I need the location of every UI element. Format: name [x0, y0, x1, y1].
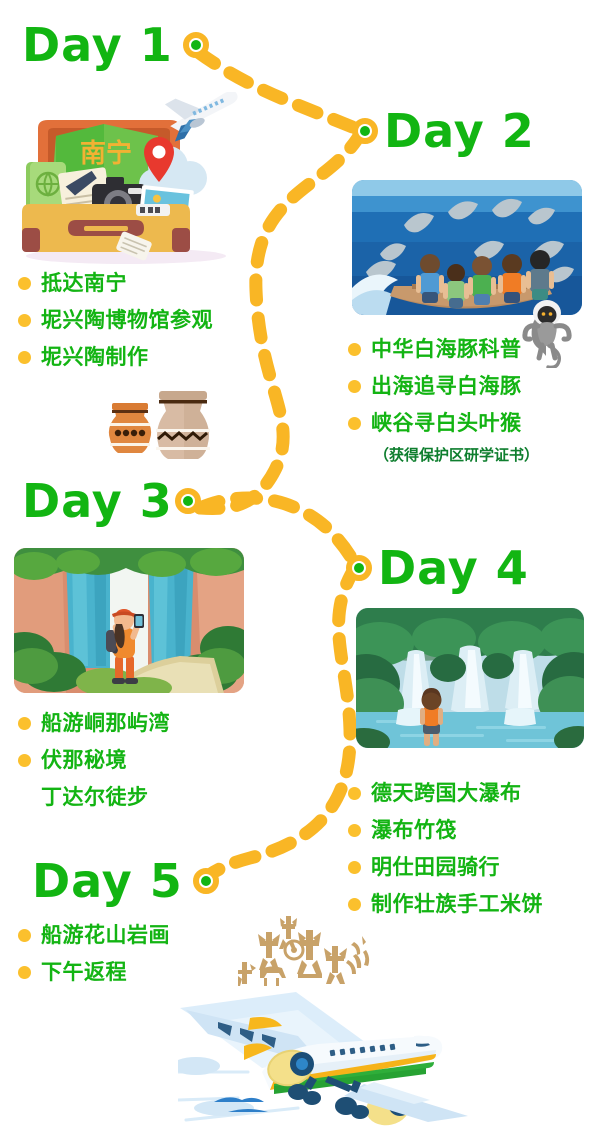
canyon-hiker-photo	[14, 548, 244, 693]
day-3-heading: Day 3	[22, 478, 201, 524]
day-1-node-marker	[183, 32, 209, 58]
list-item-label: 坭兴陶博物馆参观	[41, 305, 213, 336]
svg-text:南宁: 南宁	[80, 138, 132, 169]
list-item-label: 中华白海豚科普	[371, 334, 522, 365]
day-4-bullet-list: 德天跨国大瀑布 瀑布竹筏 明仕田园骑行 制作壮族手工米饼	[348, 778, 598, 926]
airplane-takeoff-illustration	[178, 980, 598, 1138]
bullet-dot	[348, 898, 361, 911]
list-item-label: 抵达南宁	[41, 268, 127, 299]
bullet-dot-placeholder	[18, 791, 31, 804]
bullet-dot	[348, 861, 361, 874]
day-2-certificate-note: （获得保护区研学证书）	[374, 446, 539, 464]
list-item: 船游峒那屿湾	[18, 708, 278, 739]
day-4-node-marker	[346, 555, 372, 581]
day-1-heading: Day 1	[22, 22, 209, 68]
bullet-dot	[348, 824, 361, 837]
day-5-label: Day 5	[32, 858, 183, 904]
list-item-label: 制作壮族手工米饼	[371, 889, 543, 920]
list-item-label: 坭兴陶制作	[41, 342, 149, 373]
bullet-dot	[18, 966, 31, 979]
day-2-note-row: （获得保护区研学证书）	[348, 443, 598, 467]
list-item-label: 出海追寻白海豚	[371, 371, 522, 402]
detian-waterfall-photo	[356, 608, 584, 748]
list-item-label: 下午返程	[41, 957, 127, 988]
day-1-bullet-list: 抵达南宁 坭兴陶博物馆参观 坭兴陶制作	[18, 268, 278, 379]
day-3-label: Day 3	[22, 478, 173, 524]
day-4-label: Day 4	[378, 545, 529, 591]
list-item-label: 船游花山岩画	[41, 920, 170, 951]
list-item: 中华白海豚科普	[348, 334, 598, 365]
list-item-label: 峡谷寻白头叶猴	[371, 408, 522, 439]
list-item-label: 丁达尔徒步	[41, 782, 149, 813]
day-1-label: Day 1	[22, 22, 173, 68]
bullet-dot	[18, 717, 31, 730]
list-item: 伏那秘境	[18, 745, 278, 776]
day-2-node-marker	[352, 118, 378, 144]
day-4-heading: Day 4	[346, 545, 529, 591]
bullet-dot	[18, 929, 31, 942]
bullet-dot	[18, 754, 31, 767]
day-3-bullet-list: 船游峒那屿湾 伏那秘境 丁达尔徒步	[18, 708, 278, 819]
list-item-label: 船游峒那屿湾	[41, 708, 170, 739]
list-item-label: 德天跨国大瀑布	[371, 778, 522, 809]
list-item: 瀑布竹筏	[348, 815, 598, 846]
bullet-dot	[348, 417, 361, 430]
bullet-dot	[348, 343, 361, 356]
list-item-label: 瀑布竹筏	[371, 815, 457, 846]
bullet-dot	[18, 277, 31, 290]
suitcase-illustration: 南宁	[8, 92, 238, 267]
bullet-dot	[348, 787, 361, 800]
list-item: 明仕田园骑行	[348, 852, 598, 883]
list-item-label: 伏那秘境	[41, 745, 127, 776]
day-2-bullet-list: 中华白海豚科普 出海追寻白海豚 峡谷寻白头叶猴 （获得保护区研学证书）	[348, 334, 598, 467]
day-5-heading: Day 5	[32, 858, 219, 904]
list-item: 坭兴陶制作	[18, 342, 278, 373]
list-item: 坭兴陶博物馆参观	[18, 305, 278, 336]
list-item: 德天跨国大瀑布	[348, 778, 598, 809]
list-item-continuation: 丁达尔徒步	[18, 782, 278, 813]
list-item: 峡谷寻白头叶猴	[348, 408, 598, 439]
day-3-node-marker	[175, 488, 201, 514]
bullet-dot	[348, 380, 361, 393]
bullet-dot	[18, 351, 31, 364]
list-item: 抵达南宁	[18, 268, 278, 299]
list-item: 制作壮族手工米饼	[348, 889, 598, 920]
bullet-dot	[18, 314, 31, 327]
day-2-heading: Day 2	[352, 108, 535, 154]
nixing-pottery-icon	[100, 383, 212, 461]
day-5-node-marker	[193, 868, 219, 894]
dolphin-watching-boat-photo	[352, 180, 582, 315]
day-2-label: Day 2	[384, 108, 535, 154]
list-item-label: 明仕田园骑行	[371, 852, 500, 883]
itinerary-infographic: Day 1 南宁	[0, 0, 600, 1138]
list-item: 出海追寻白海豚	[348, 371, 598, 402]
